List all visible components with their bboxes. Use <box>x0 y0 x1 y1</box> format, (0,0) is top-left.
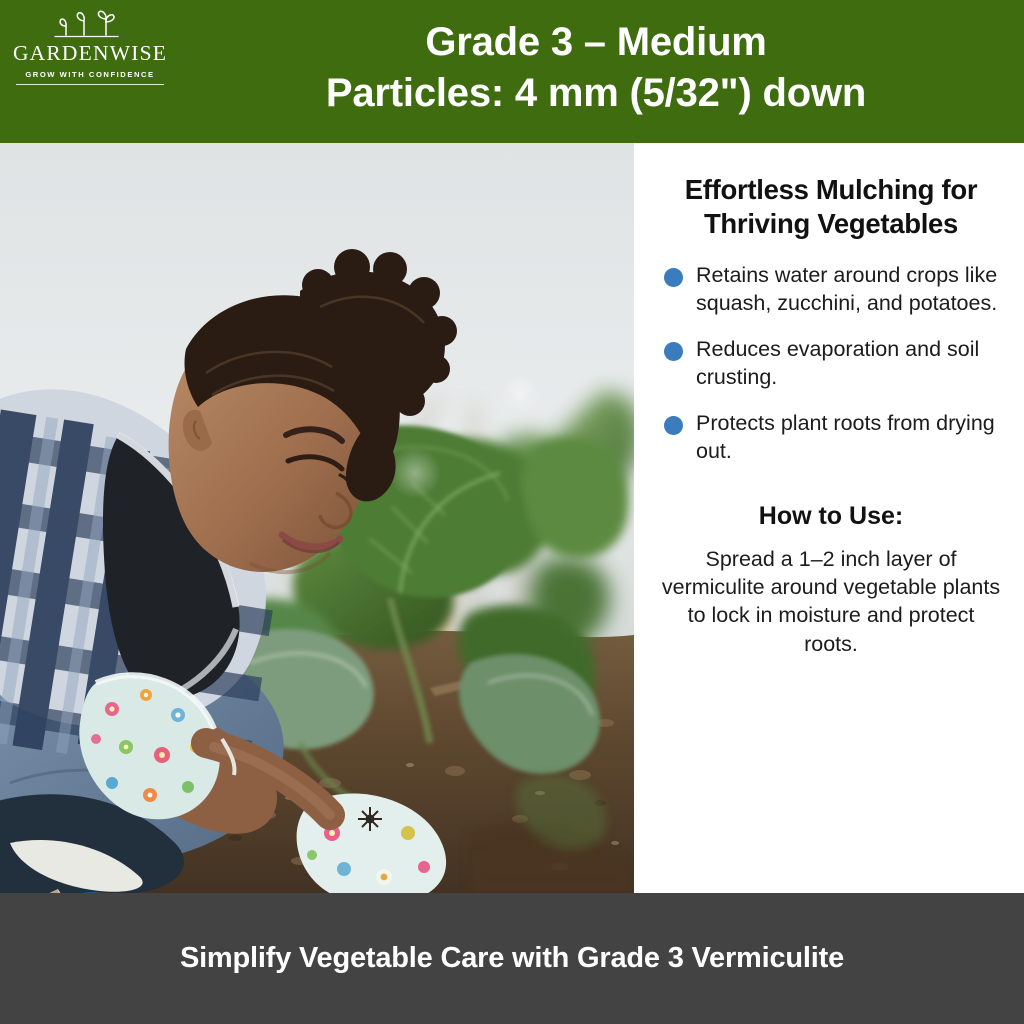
brand-name: GARDENWISE <box>13 42 167 65</box>
header-title-line2: Particles: 4 mm (5/32") down <box>168 68 1024 119</box>
footer-banner: Simplify Vegetable Care with Grade 3 Ver… <box>0 893 1024 1024</box>
bullet-dot-icon <box>664 416 683 435</box>
gardener-photo-illustration <box>0 143 634 894</box>
how-to-use-title: How to Use: <box>656 502 1006 531</box>
gardener-photo <box>0 143 634 894</box>
panel-heading: Effortless Mulching for Thriving Vegetab… <box>664 173 998 240</box>
benefit-text: Protects plant roots from drying out. <box>696 410 1006 466</box>
header-title: Grade 3 – Medium Particles: 4 mm (5/32")… <box>168 17 1024 119</box>
bullet-dot-icon <box>664 342 683 361</box>
benefit-text: Retains water around crops like squash, … <box>696 262 1006 318</box>
brand-logo: GARDENWISE GROW WITH CONFIDENCE <box>14 8 166 85</box>
sprout-seedling-icon <box>48 8 132 42</box>
how-to-use-body: Spread a 1–2 inch layer of vermiculite a… <box>656 545 1006 659</box>
infographic-page: GARDENWISE GROW WITH CONFIDENCE Grade 3 … <box>0 0 1024 1024</box>
benefit-text: Reduces evaporation and soil crusting. <box>696 336 1006 392</box>
benefits-list: Retains water around crops like squash, … <box>656 262 1006 466</box>
benefits-panel: Effortless Mulching for Thriving Vegetab… <box>634 143 1024 894</box>
list-item: Protects plant roots from drying out. <box>664 410 1006 466</box>
header-title-line1: Grade 3 – Medium <box>425 20 766 64</box>
bullet-dot-icon <box>664 268 683 287</box>
list-item: Retains water around crops like squash, … <box>664 262 1006 318</box>
list-item: Reduces evaporation and soil crusting. <box>664 336 1006 392</box>
footer-tagline: Simplify Vegetable Care with Grade 3 Ver… <box>140 940 884 978</box>
logo-divider <box>16 84 164 85</box>
header-banner: GARDENWISE GROW WITH CONFIDENCE Grade 3 … <box>0 0 1024 143</box>
brand-tagline: GROW WITH CONFIDENCE <box>25 70 154 79</box>
